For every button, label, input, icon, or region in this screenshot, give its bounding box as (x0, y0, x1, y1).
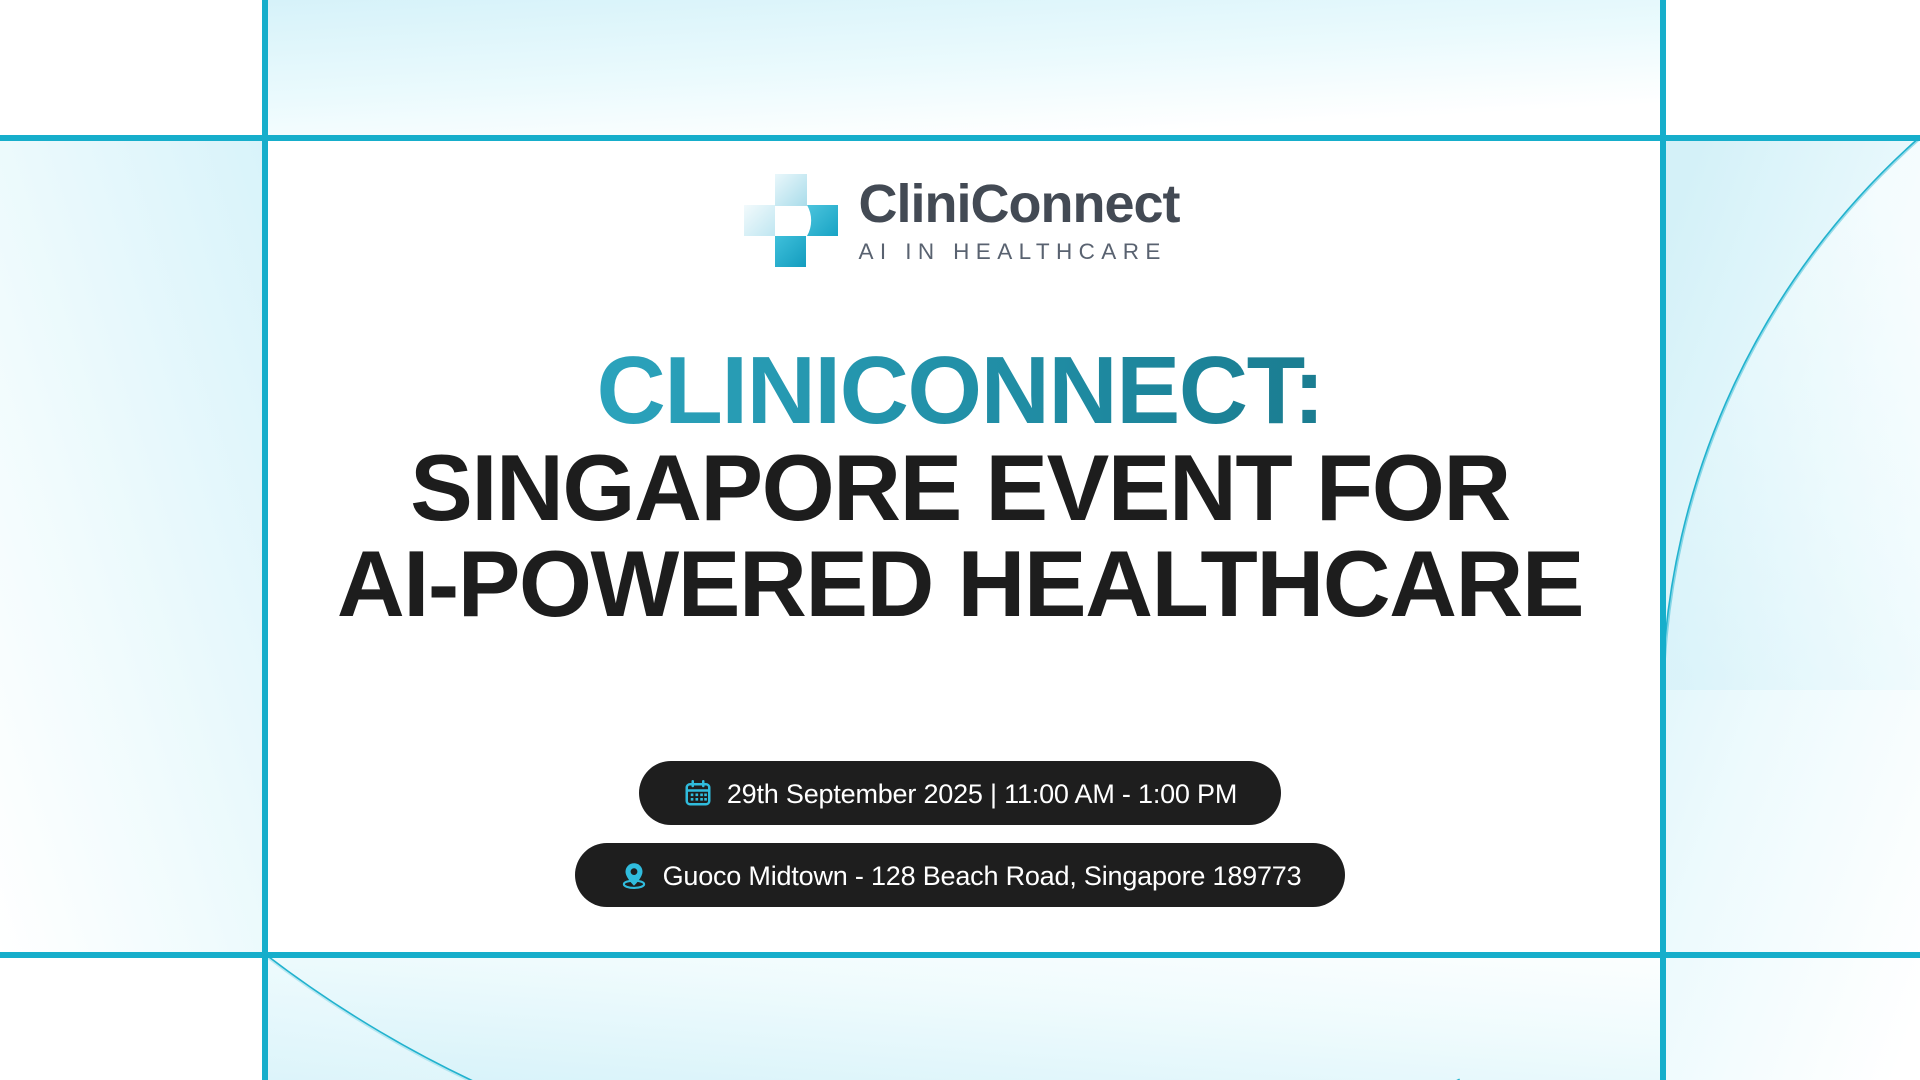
brand-lockup: CliniConnect AI IN HEALTHCARE (741, 170, 1180, 270)
event-date-label: 29th September 2025 | 11:00 AM - 1:00 PM (727, 781, 1237, 808)
event-date-pill: 29th September 2025 | 11:00 AM - 1:00 PM (639, 761, 1281, 825)
event-banner: CliniConnect AI IN HEALTHCARE CLINICONNE… (0, 0, 1920, 1080)
event-location-pill: Guoco Midtown - 128 Beach Road, Singapor… (575, 843, 1346, 907)
event-location-label: Guoco Midtown - 128 Beach Road, Singapor… (663, 863, 1302, 890)
map-pin-icon (619, 860, 649, 890)
headline-line-3: AI-POWERED HEALTHCARE (337, 536, 1583, 632)
brand-tagline: AI IN HEALTHCARE (859, 241, 1167, 264)
page-title: CLINICONNECT: SINGAPORE EVENT FOR AI-POW… (337, 342, 1583, 632)
medical-cross-logo-icon (741, 170, 841, 270)
event-details: 29th September 2025 | 11:00 AM - 1:00 PM… (575, 761, 1346, 907)
calendar-icon (683, 778, 713, 808)
brand-wordmark: CliniConnect (859, 177, 1180, 232)
headline-line-1: CLINICONNECT: (337, 342, 1583, 440)
headline-line-2: SINGAPORE EVENT FOR (337, 440, 1583, 536)
